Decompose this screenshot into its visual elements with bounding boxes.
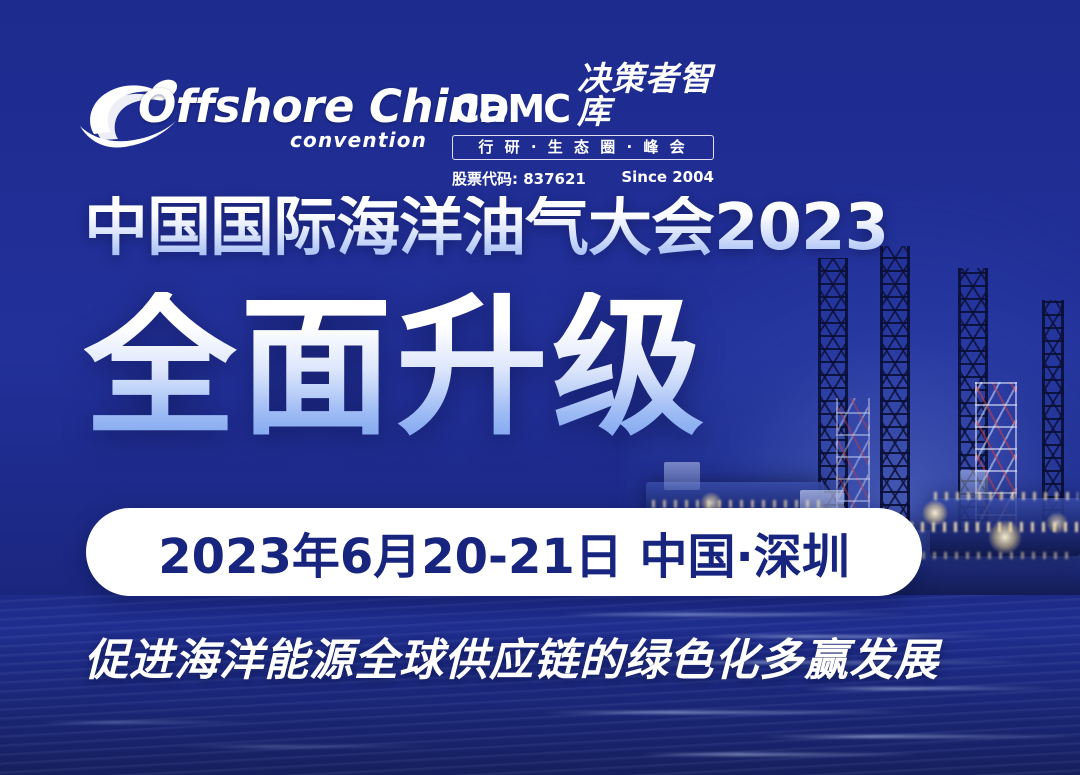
- event-date-location-text: 2023年6月20-21日 中国·深圳: [158, 517, 849, 587]
- event-poster: Offshore China convention CDMC 决策者智库 行 研…: [0, 0, 1080, 775]
- cdmc-mark-chinese: 决策者智库: [577, 62, 722, 128]
- cdmc-since: Since 2004: [621, 168, 714, 189]
- cdmc-logo-row: CDMC 决策者智库: [452, 62, 722, 128]
- cdmc-tagline-box: 行 研 · 生 态 圈 · 峰 会: [452, 135, 714, 160]
- offshore-china-logo: Offshore China convention: [78, 58, 418, 163]
- page-title: 中国国际海洋油气大会2023: [84, 196, 888, 260]
- offshore-china-subtitle: convention: [290, 128, 427, 152]
- cdmc-footer-row: 股票代码: 837621 Since 2004: [452, 168, 714, 189]
- cdmc-stock-code: 股票代码: 837621: [452, 168, 586, 189]
- event-tagline: 促进海洋能源全球供应链的绿色化多赢发展: [84, 624, 939, 688]
- cdmc-mark: CDMC: [452, 90, 569, 128]
- headline-upgrade: 全面升级: [84, 292, 708, 444]
- cdmc-logo: CDMC 决策者智库 行 研 · 生 态 圈 · 峰 会 股票代码: 83762…: [452, 62, 722, 167]
- event-date-location-badge: 2023年6月20-21日 中国·深圳: [86, 508, 922, 596]
